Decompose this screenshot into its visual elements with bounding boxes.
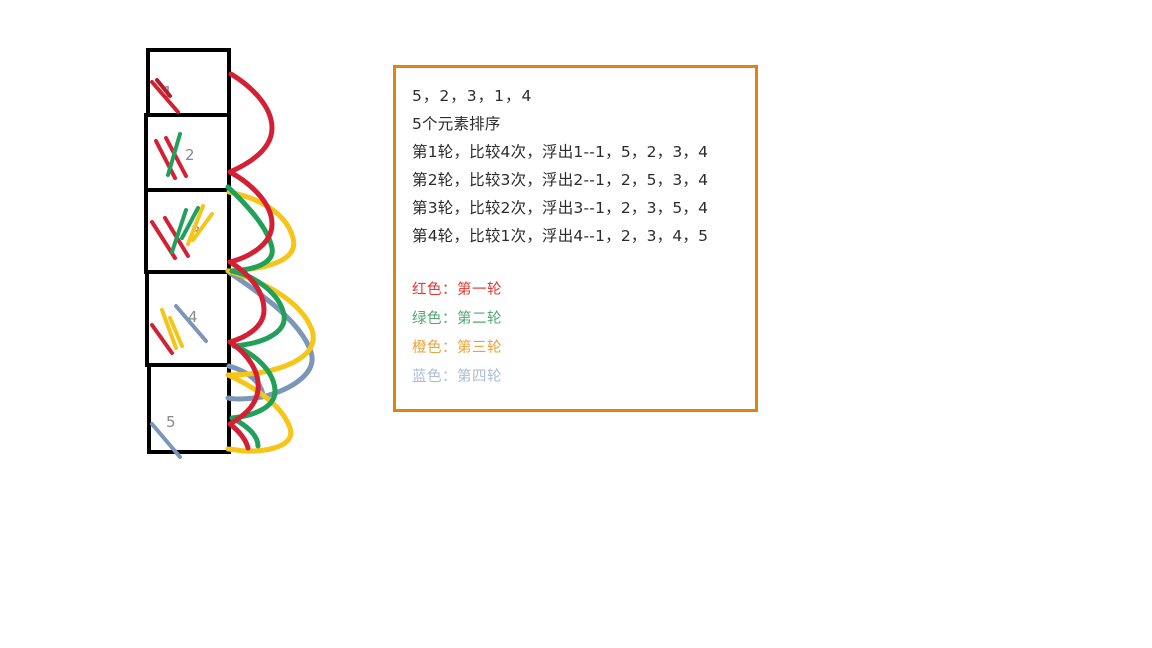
element-box-labels: 1 2 3 4 5 — [163, 83, 201, 431]
pass-3-arc-2 — [228, 271, 313, 375]
strike-green — [168, 134, 180, 175]
pass-1-arc-1 — [230, 74, 272, 172]
legend-item-green: 绿色：第二轮 — [412, 305, 755, 334]
strike-marks-box-4 — [152, 306, 206, 353]
annotation-line-pass-1: 第1轮，比较4次，浮出1--1，5，2，3，4 — [412, 138, 755, 166]
strike-marks-box-3 — [152, 206, 212, 258]
element-box-5 — [149, 365, 229, 452]
strike-marks-box-2 — [156, 134, 186, 178]
annotation-line-pass-3: 第3轮，比较2次，浮出3--1，2，3，5，4 — [412, 194, 755, 222]
legend-item-red: 红色：第一轮 — [412, 276, 755, 305]
legend-item-orange: 橙色：第三轮 — [412, 334, 755, 363]
annotation-line-input-array: 5，2，3，1，4 — [412, 82, 755, 110]
sort-diagram-svg: 1 2 3 4 5 — [0, 0, 380, 520]
color-legend: 红色：第一轮 绿色：第二轮 橙色：第三轮 蓝色：第四轮 — [412, 276, 755, 392]
pass-1-arc-2 — [230, 172, 272, 262]
annotation-line-pass-4: 第4轮，比较1次，浮出4--1，2，3，4，5 — [412, 222, 755, 250]
annotation-inner: 5，2，3，1，4 5个元素排序 第1轮，比较4次，浮出1--1，5，2，3，4… — [396, 68, 755, 392]
annotation-line-pass-2: 第2轮，比较3次，浮出2--1，2，5，3，4 — [412, 166, 755, 194]
legend-item-blue: 蓝色：第四轮 — [412, 363, 755, 392]
annotation-box: 5，2，3，1，4 5个元素排序 第1轮，比较4次，浮出1--1，5，2，3，4… — [393, 65, 758, 412]
element-box-label-2: 2 — [185, 146, 195, 164]
element-boxes — [146, 50, 229, 452]
element-box-label-5: 5 — [166, 413, 176, 431]
sort-diagram-panel: 1 2 3 4 5 — [0, 0, 380, 520]
annotation-line-element-count: 5个元素排序 — [412, 110, 755, 138]
